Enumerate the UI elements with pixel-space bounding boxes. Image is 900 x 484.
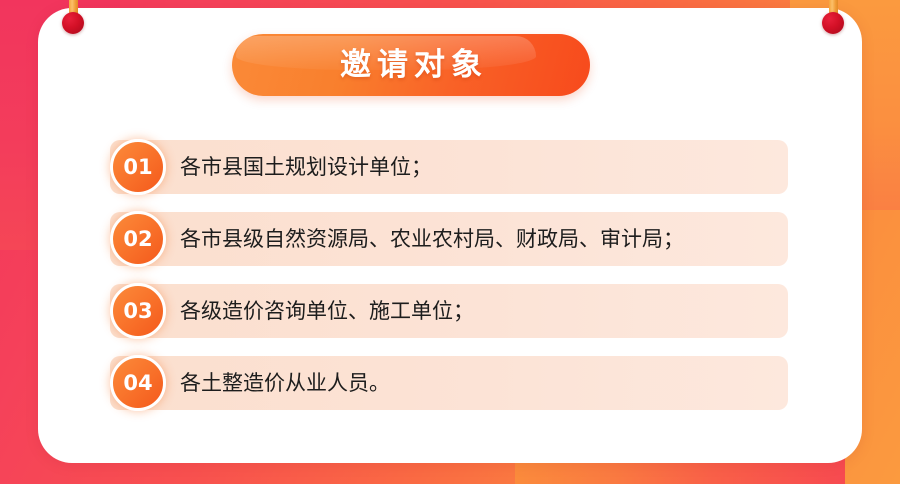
list-item: 03 各级造价咨询单位、施工单位； [72,284,772,338]
pin-right-icon [822,0,844,36]
page-title: 邀请对象 [232,34,590,96]
list-item: 01 各市县国土规划设计单位； [72,140,772,194]
invitation-poster: 邀请对象 01 各市县国土规划设计单位； 02 各市县级自然资源局、农业农村局、… [0,0,900,484]
list-item-number-badge: 03 [110,283,166,339]
section-title-banner: 邀请对象 [232,34,590,96]
pin-left-icon [62,0,84,36]
list-item-label: 各市县国土规划设计单位； [180,140,432,194]
invitee-list: 01 各市县国土规划设计单位； 02 各市县级自然资源局、农业农村局、财政局、审… [72,140,772,428]
list-item-label: 各级造价咨询单位、施工单位； [180,284,474,338]
list-item-label: 各市县级自然资源局、农业农村局、财政局、审计局； [180,212,684,266]
list-item-number-badge: 01 [110,139,166,195]
pin-left-head [62,12,84,34]
list-item-number-badge: 02 [110,211,166,267]
list-item: 02 各市县级自然资源局、农业农村局、财政局、审计局； [72,212,772,266]
list-item-number-badge: 04 [110,355,166,411]
list-item-label: 各土整造价从业人员。 [180,356,390,410]
pin-right-head [822,12,844,34]
list-item: 04 各土整造价从业人员。 [72,356,772,410]
